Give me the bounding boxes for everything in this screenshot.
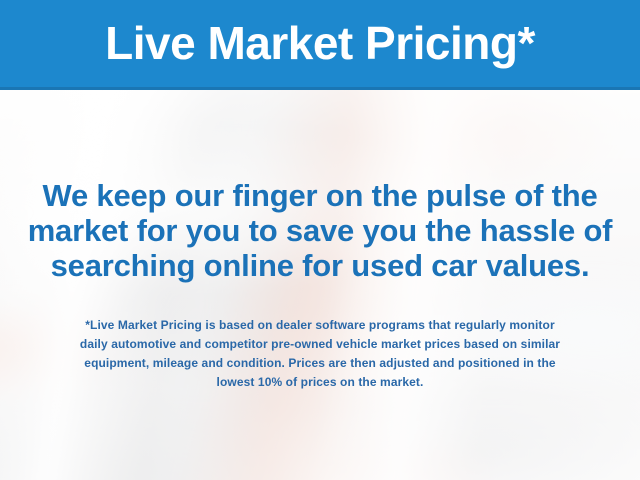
disclaimer: *Live Market Pricing is based on dealer …: [0, 316, 640, 392]
disclaimer-line: *Live Market Pricing is based on dealer …: [0, 316, 640, 335]
header-banner: Live Market Pricing*: [0, 0, 640, 90]
disclaimer-line: lowest 10% of prices on the market.: [0, 373, 640, 392]
headline-line: market for you to save you the hassle of: [0, 213, 640, 248]
headline-line: searching online for used car values.: [0, 248, 640, 283]
disclaimer-line: daily automotive and competitor pre-owne…: [0, 335, 640, 354]
page-title: Live Market Pricing*: [105, 20, 535, 66]
headline-line: We keep our finger on the pulse of the: [0, 178, 640, 213]
live-market-pricing-graphic: Live Market Pricing* We keep our finger …: [0, 0, 640, 480]
disclaimer-line: equipment, mileage and condition. Prices…: [0, 354, 640, 373]
headline: We keep our finger on the pulse of the m…: [0, 178, 640, 283]
